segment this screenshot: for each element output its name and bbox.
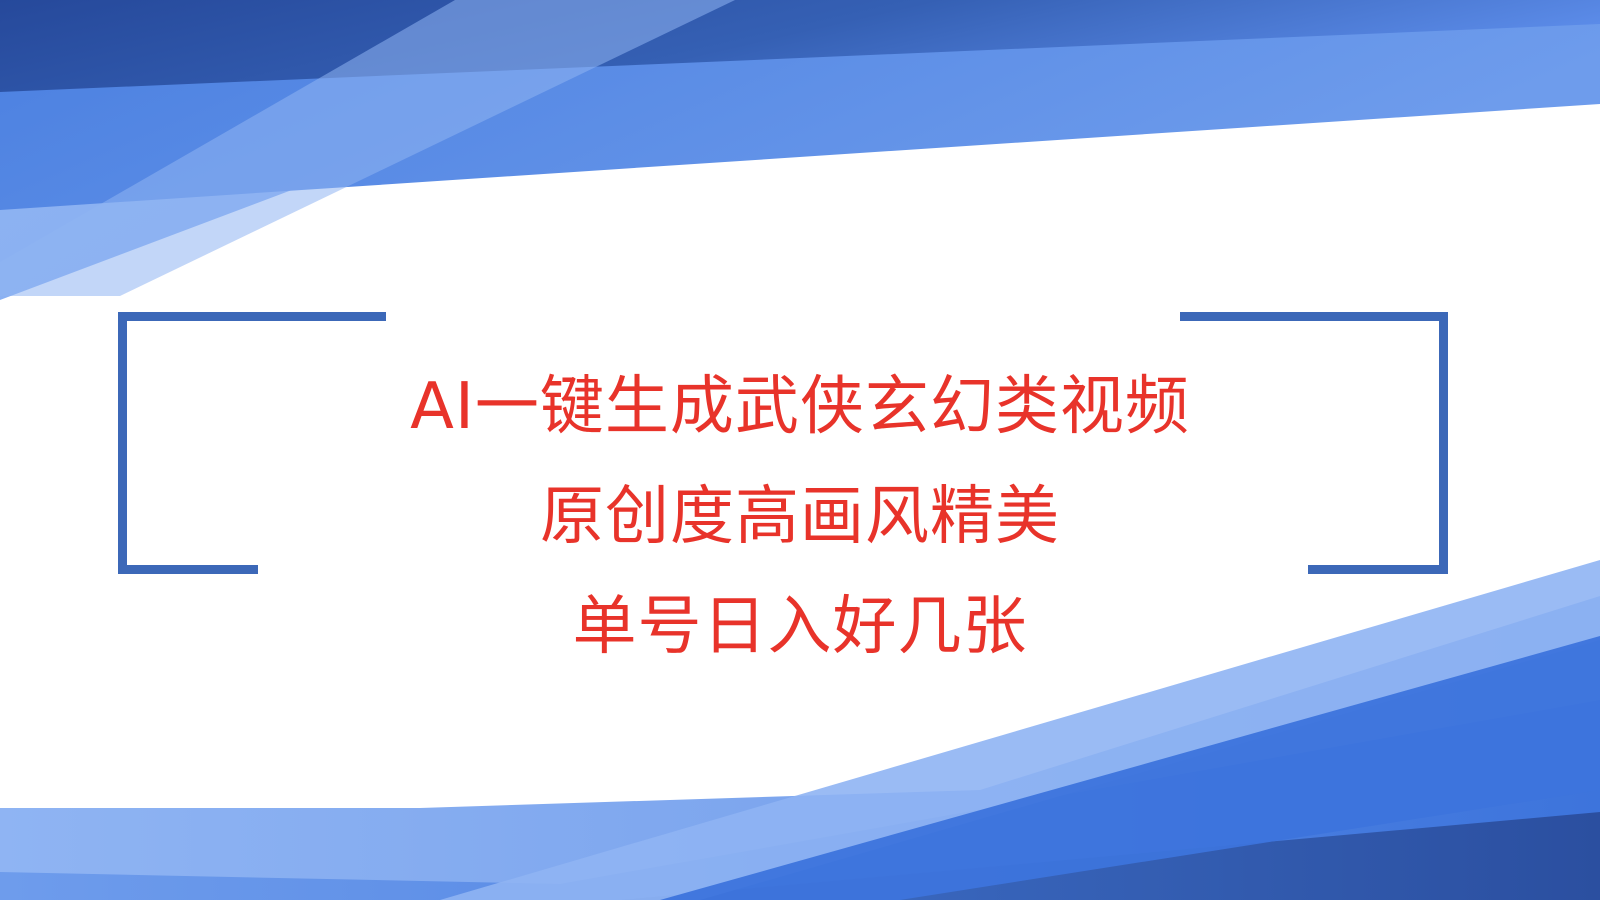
headline-block: AI一键生成武侠玄幻类视频 原创度高画风精美 单号日入好几张 — [0, 352, 1600, 682]
headline-line-1: AI一键生成武侠玄幻类视频 — [0, 352, 1600, 462]
headline-line-2: 原创度高画风精美 — [0, 462, 1600, 572]
headline-line-3: 单号日入好几张 — [0, 572, 1600, 682]
promo-poster: AI一键生成武侠玄幻类视频 原创度高画风精美 单号日入好几张 — [0, 0, 1600, 900]
